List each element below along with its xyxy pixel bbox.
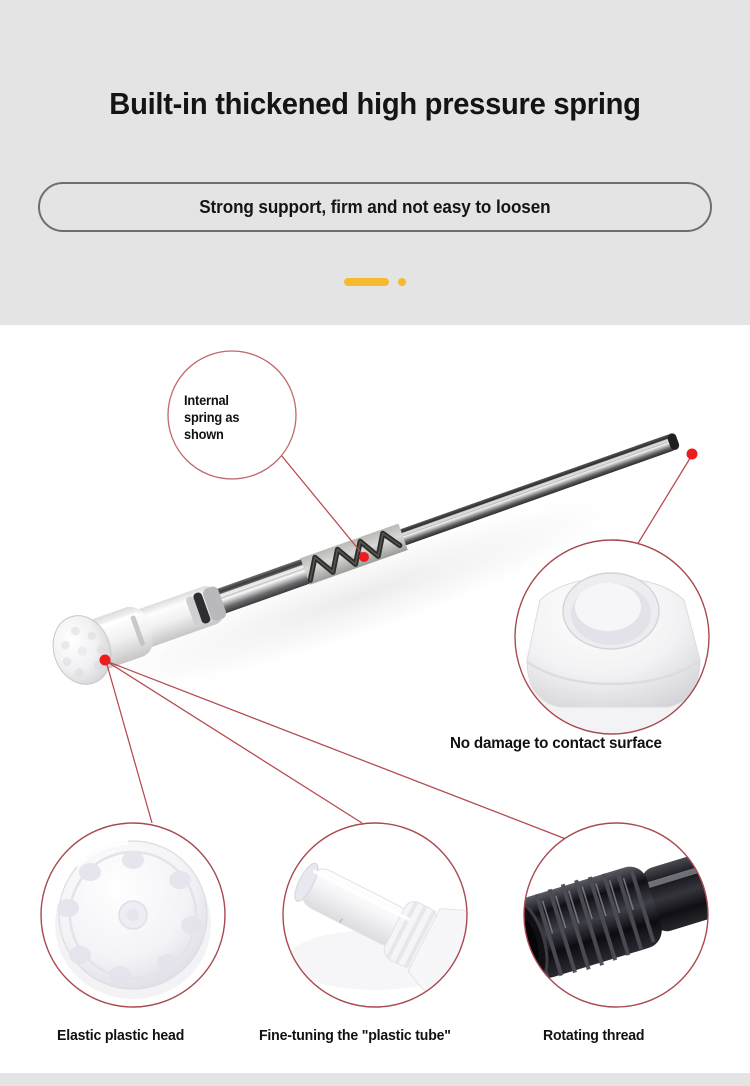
callout-line-3: shown <box>184 426 239 443</box>
feature-label-rotating-thread: Rotating thread <box>543 1027 644 1044</box>
callout-line-1: Internal <box>184 392 239 409</box>
subtitle-text: Strong support, firm and not easy to loo… <box>199 197 550 218</box>
pagination-dot[interactable] <box>398 278 406 286</box>
infographic-page: Built-in thickened high pressure spring … <box>0 0 750 1086</box>
feature-label-fine-tuning-plastic-tube: Fine-tuning the "plastic tube" <box>259 1027 451 1044</box>
header-band <box>0 0 750 325</box>
label-no-damage-contact-surface: No damage to contact surface <box>450 735 662 753</box>
page-title: Built-in thickened high pressure spring <box>23 86 728 122</box>
feature-label-elastic-plastic-head: Elastic plastic head <box>57 1027 184 1044</box>
pagination-indicator[interactable] <box>0 278 750 286</box>
pagination-active-bar[interactable] <box>344 278 389 286</box>
callout-text-internal-spring: Internal spring as shown <box>184 392 239 443</box>
callout-line-2: spring as <box>184 409 239 426</box>
subtitle-pill: Strong support, firm and not easy to loo… <box>38 182 712 232</box>
product-photo-area <box>0 325 750 1073</box>
bottom-strip <box>0 1073 750 1086</box>
